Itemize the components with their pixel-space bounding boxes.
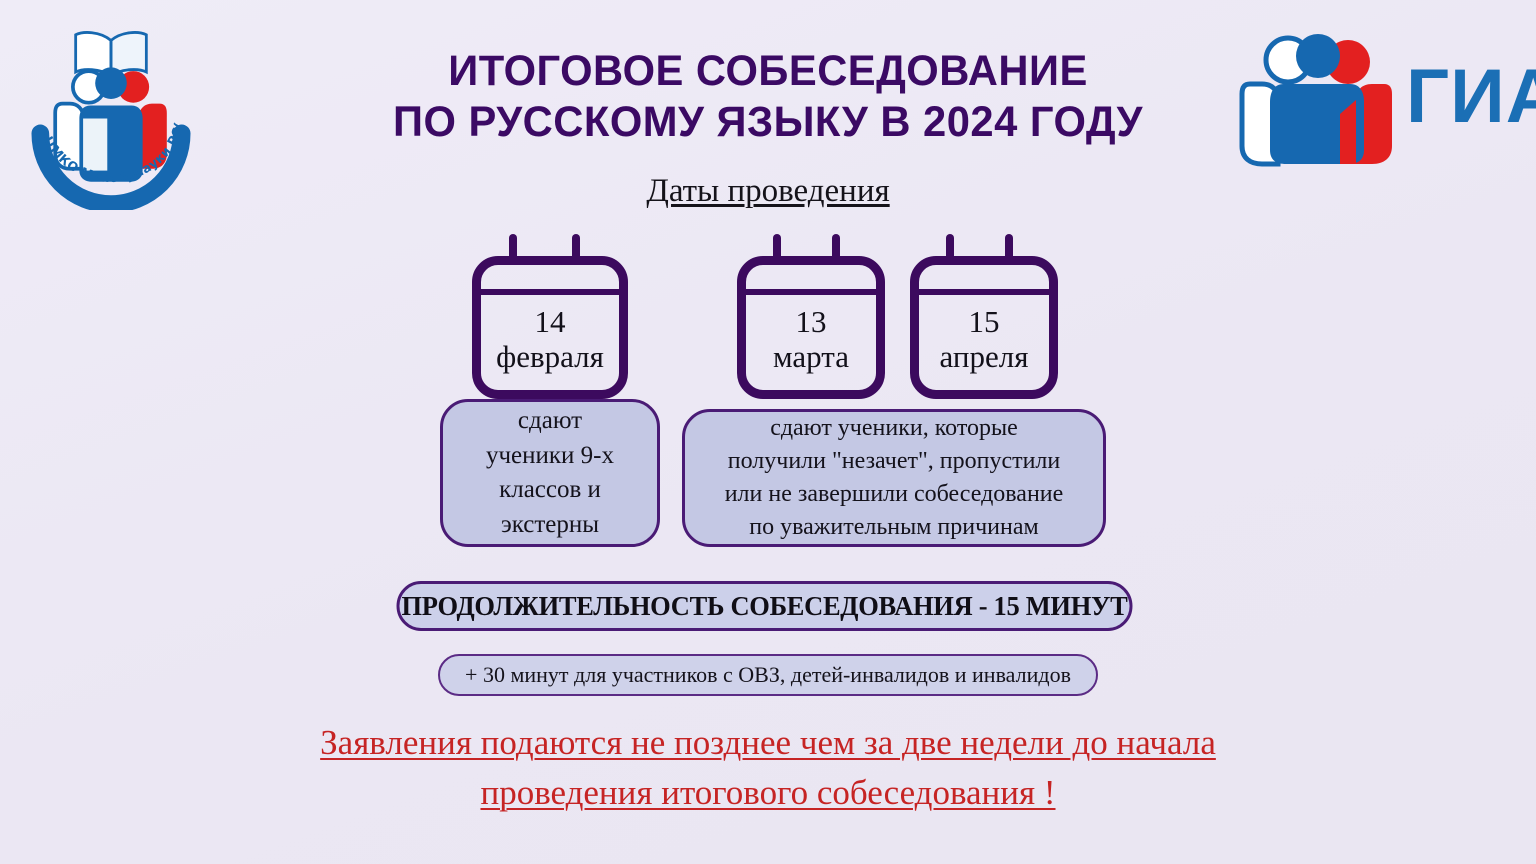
cmko-logo: ГБУ «ЦМКО Минобрнауки РС(Я)» <box>18 14 204 210</box>
calendar-day: 13 <box>796 305 827 340</box>
gia-logo: ГИА <box>1232 22 1522 172</box>
bubble-line: экстерны <box>501 508 599 543</box>
bubble-line: получили "незачет", пропустили <box>728 445 1061 478</box>
title-line-1: ИТОГОВОЕ СОБЕСЕДОВАНИЕ <box>283 46 1253 97</box>
slide-canvas: ГБУ «ЦМКО Минобрнауки РС(Я)» ИТОГОВОЕ СО… <box>0 0 1536 864</box>
bubble-line: по уважительным причинам <box>749 511 1038 544</box>
calendar-month: апреля <box>940 340 1029 375</box>
participants-retake-bubble: сдают ученики, которые получили "незачет… <box>682 409 1106 547</box>
title-line-2: ПО РУССКОМУ ЯЗЫКУ В 2024 ГОДУ <box>283 97 1253 148</box>
calendar-day: 14 <box>535 305 566 340</box>
bubble-line: сдают <box>518 404 582 439</box>
calendar-date-1[interactable]: 14 февраля <box>472 234 628 399</box>
calendar-header-bar <box>480 289 620 295</box>
bubble-line: или не завершили собеседование <box>725 478 1064 511</box>
dates-subtitle: Даты проведения <box>468 173 1068 210</box>
bubble-line: сдают ученики, которые <box>770 412 1018 445</box>
duration-banner: ПРОДОЛЖИТЕЛЬНОСТЬ СОБЕСЕДОВАНИЯ - 15 МИН… <box>397 581 1133 631</box>
calendar-day: 15 <box>969 305 1000 340</box>
calendar-header-bar <box>918 289 1050 295</box>
calendar-date-3[interactable]: 15 апреля <box>910 234 1058 399</box>
bubble-line: классов и <box>499 473 601 508</box>
calendar-body: 15 апреля <box>910 256 1058 399</box>
duration-extra-time-note: + 30 минут для участников с ОВЗ, детей-и… <box>438 654 1098 696</box>
calendar-month: марта <box>773 340 849 375</box>
calendar-month: февраля <box>496 340 604 375</box>
calendar-body: 13 марта <box>737 256 885 399</box>
warning-line-2: проведения итогового собеседования ! <box>168 768 1368 818</box>
bubble-line: ученики 9-х <box>486 439 614 474</box>
warning-line-1: Заявления подаются не позднее чем за две… <box>168 718 1368 768</box>
calendar-date-2[interactable]: 13 марта <box>737 234 885 399</box>
application-deadline-warning: Заявления подаются не позднее чем за две… <box>168 718 1368 817</box>
gia-label: ГИА <box>1406 59 1536 135</box>
calendar-body: 14 февраля <box>472 256 628 399</box>
calendar-header-bar <box>745 289 877 295</box>
participants-first-date-bubble: сдают ученики 9-х классов и экстерны <box>440 399 660 547</box>
page-title: ИТОГОВОЕ СОБЕСЕДОВАНИЕ ПО РУССКОМУ ЯЗЫКУ… <box>283 46 1253 147</box>
